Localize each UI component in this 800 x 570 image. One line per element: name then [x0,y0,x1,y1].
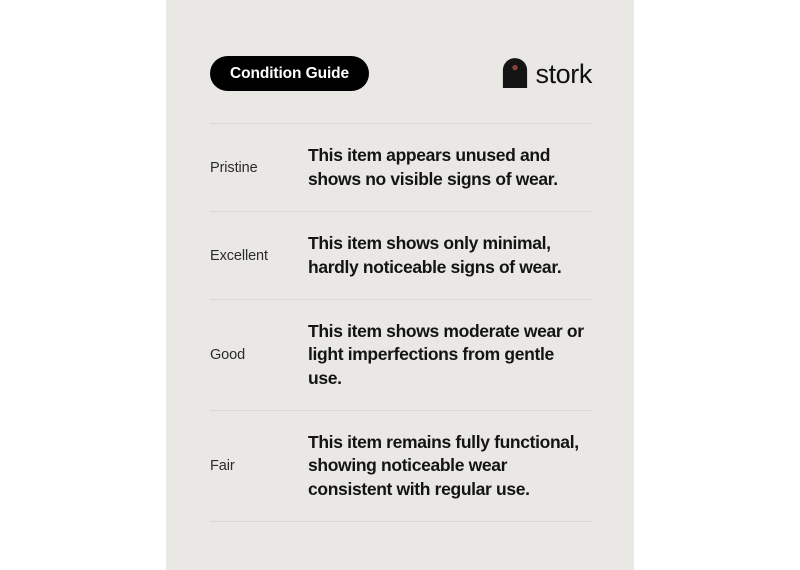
row-label: Pristine [210,160,308,176]
row-description: This item shows moderate wear or light i… [308,320,592,389]
page-root: Condition Guide stork Pristine This item… [0,0,800,570]
row-label: Good [210,347,308,363]
table-row: Excellent This item shows only minimal, … [210,212,592,299]
row-description: This item remains fully functional, show… [308,431,592,500]
table-row: Fair This item remains fully functional,… [210,411,592,521]
condition-table: Pristine This item appears unused and sh… [210,123,592,522]
row-divider [210,521,592,522]
table-row: Good This item shows moderate wear or li… [210,300,592,410]
row-label: Fair [210,458,308,474]
brand-wordmark: stork [535,61,592,88]
row-description: This item appears unused and shows no vi… [308,144,592,190]
card-content: Condition Guide stork Pristine This item… [210,0,592,570]
condition-guide-badge: Condition Guide [210,56,369,91]
stork-arch-logo-icon [502,57,528,89]
table-row: Pristine This item appears unused and sh… [210,124,592,211]
row-label: Excellent [210,248,308,264]
card-header: Condition Guide stork [210,56,592,92]
row-description: This item shows only minimal, hardly not… [308,232,592,278]
condition-guide-card: Condition Guide stork Pristine This item… [166,0,634,570]
brand-lockup: stork [502,57,592,89]
